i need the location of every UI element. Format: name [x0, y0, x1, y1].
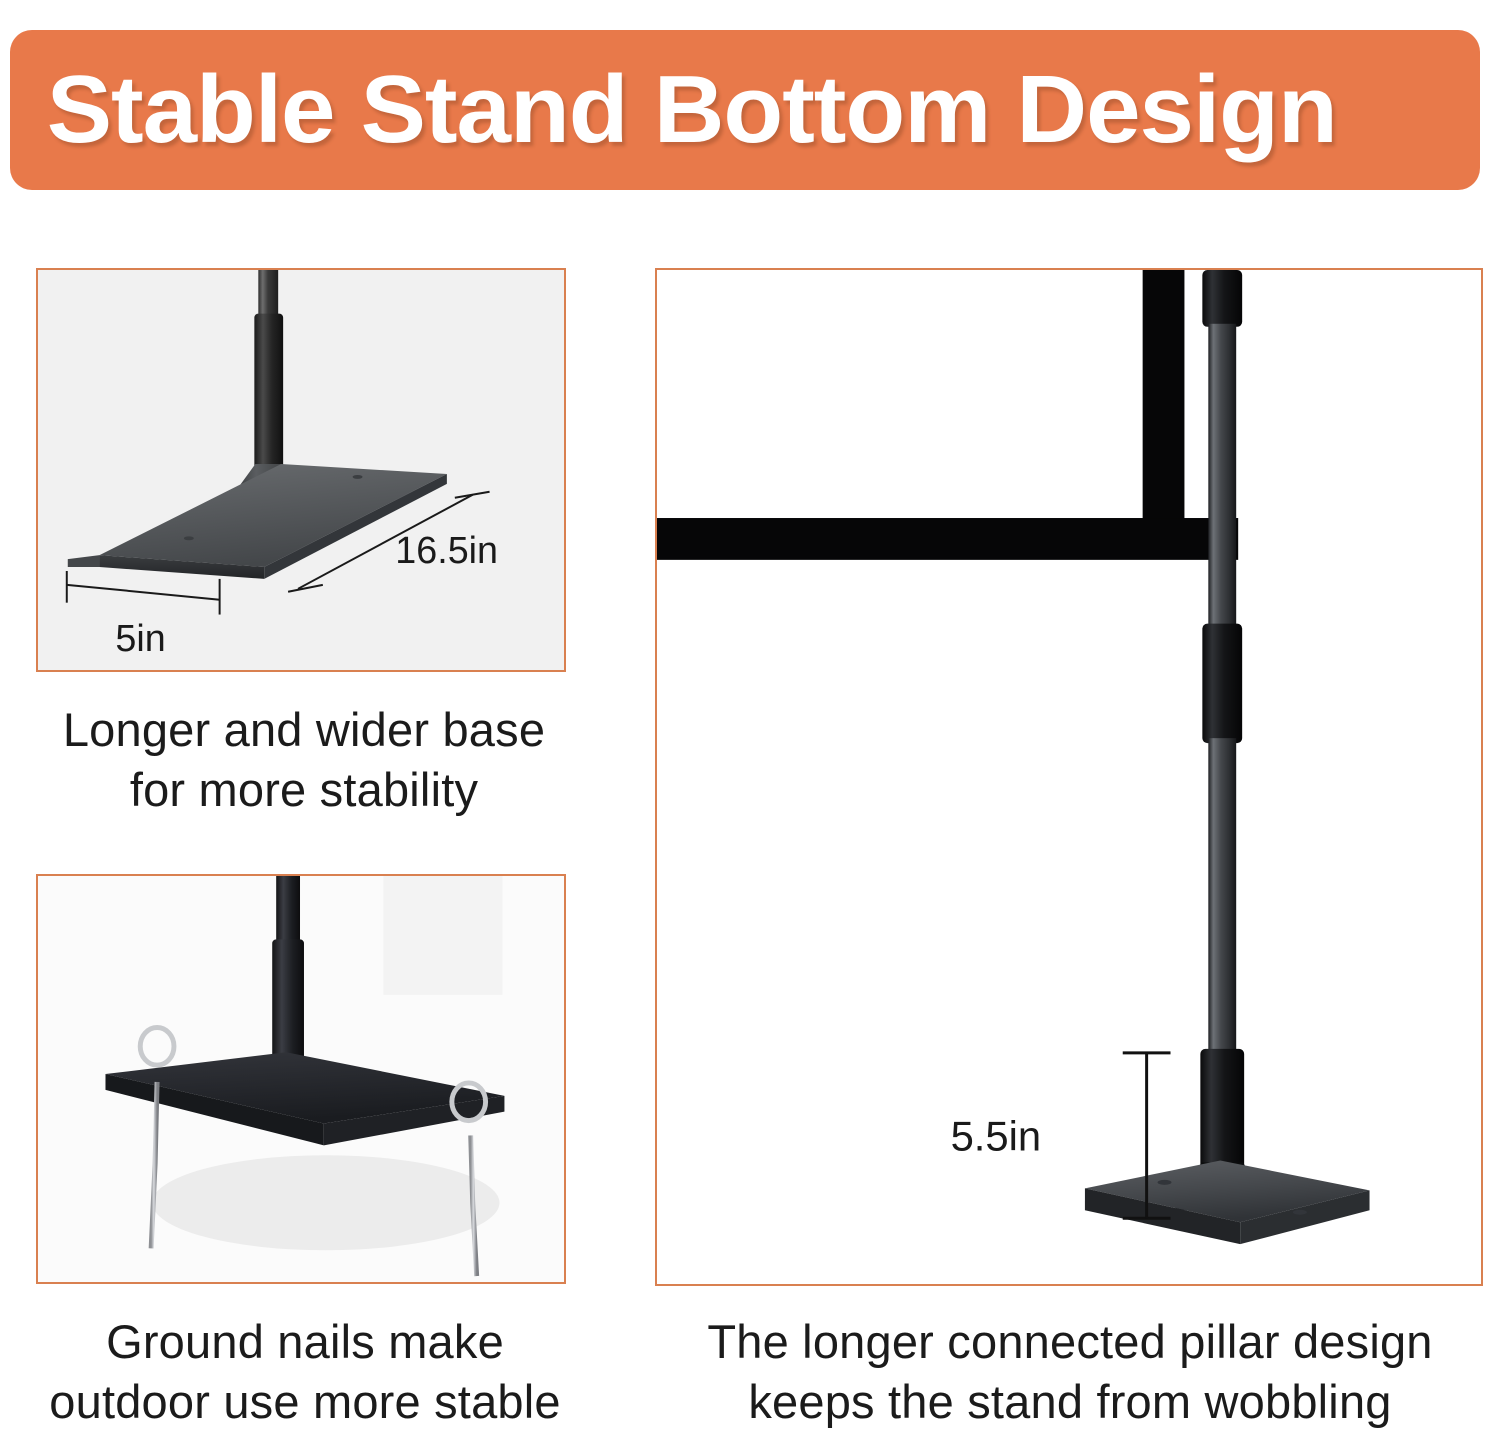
pole-black-sleeve: [254, 314, 283, 470]
plate-hole-left: [1158, 1180, 1172, 1185]
panel-base-dimensions: 5in 16.5in: [36, 268, 566, 672]
pillar-middle-sleeve: [1202, 624, 1242, 744]
caption-base-line2: for more stability: [36, 760, 572, 820]
caption-base-stability: Longer and wider base for more stability: [36, 700, 572, 820]
background-wall-shade: [383, 876, 502, 995]
frame-vertical-post: [1143, 270, 1185, 554]
floor-shadow: [152, 1155, 499, 1250]
page-title: Stable Stand Bottom Design: [10, 55, 1337, 165]
pillar-upper-tube: [1208, 324, 1236, 628]
connected-pillar-illustration: 5.5in: [657, 270, 1481, 1284]
dimension-5in-label: 5in: [115, 617, 165, 659]
plate-hole-right: [1293, 1210, 1307, 1215]
pole-upper-section: [276, 876, 300, 943]
panel-connected-pillar: 5.5in: [655, 268, 1483, 1286]
caption-ground-nails: Ground nails make outdoor use more stabl…: [20, 1312, 590, 1432]
base-dimensions-illustration: 5in 16.5in: [38, 270, 564, 670]
header-banner: Stable Stand Bottom Design: [10, 30, 1480, 190]
dimension-165in-label: 16.5in: [395, 529, 498, 571]
panel-ground-nails: [36, 874, 566, 1284]
dimension-55in-label: 5.5in: [951, 1113, 1042, 1160]
panel-background: [657, 270, 1481, 1284]
pillar-lower-tube: [1208, 738, 1236, 1057]
pillar-top-sleeve: [1202, 270, 1242, 327]
caption-pillar-line1: The longer connected pillar design: [655, 1312, 1485, 1372]
caption-nails-line1: Ground nails make: [20, 1312, 590, 1372]
caption-pillar-line2: keeps the stand from wobbling: [655, 1372, 1485, 1432]
pole-lower-sleeve: [272, 939, 304, 1060]
plate-hole-left: [184, 536, 194, 540]
pillar-base-connector-sleeve: [1200, 1049, 1244, 1171]
caption-nails-line2: outdoor use more stable: [20, 1372, 590, 1432]
pole-upper-tube: [258, 270, 278, 316]
caption-connected-pillar: The longer connected pillar design keeps…: [655, 1312, 1485, 1432]
ground-nails-illustration: [38, 876, 564, 1282]
plate-hole-right: [353, 475, 363, 479]
caption-base-line1: Longer and wider base: [36, 700, 572, 760]
frame-horizontal-crossbar: [657, 518, 1238, 560]
